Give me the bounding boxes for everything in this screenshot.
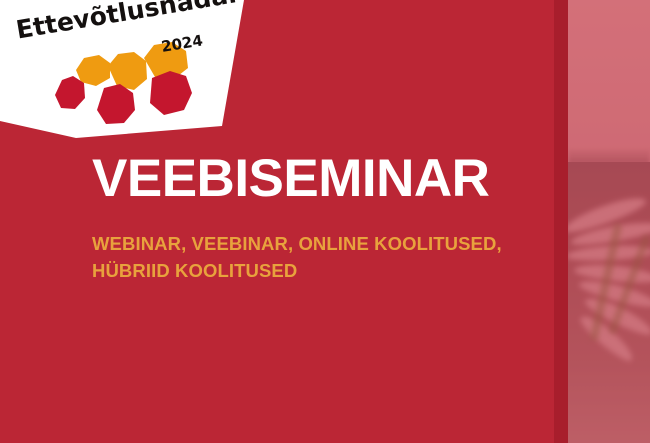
page-subtitle: WEBINAR, VEEBINAR, ONLINE KOOLITUSED, HÜ… [92, 205, 562, 285]
headline-block: VEEBISEMINAR WEBINAR, VEEBINAR, ONLINE K… [92, 152, 562, 285]
decorative-photo [568, 0, 650, 443]
hexagon-red-right [150, 71, 192, 115]
event-logo-panel: Ettevõtlusnädal 2024 [0, 0, 252, 145]
hexagon-red-left [55, 76, 85, 109]
webinar-banner: Ettevõtlusnädal 2024 VEEBISEMINAR WEBINA… [0, 0, 650, 443]
hexagon-orange-middle [108, 52, 147, 90]
hexagon-red-bottom [97, 84, 135, 124]
photo-red-tint [568, 0, 650, 443]
page-title: VEEBISEMINAR [92, 152, 562, 205]
